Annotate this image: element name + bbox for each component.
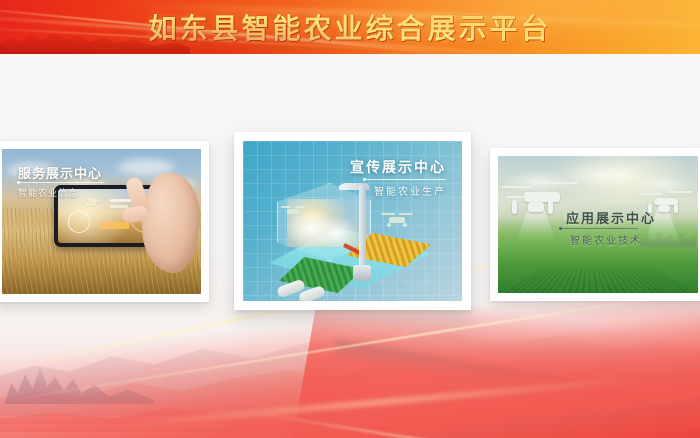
card-subtitle: 智能农业生产 (374, 183, 446, 198)
card-title: 应用展示中心 (566, 208, 656, 227)
card-promotion-image: 宣传展示中心 智能农业生产 (243, 141, 462, 301)
card-application-display-center[interactable]: 应用展示中心 智能农业技术 (490, 148, 700, 301)
temperature-reading: 28° (86, 197, 100, 207)
hud-bar-indicator (99, 222, 129, 229)
card-title: 服务展示中心 (18, 163, 102, 182)
title-divider (18, 182, 104, 183)
drone-icon (381, 211, 413, 227)
card-subtitle: 智能农业技术 (570, 232, 642, 247)
app-root: 如东县智能农业综合展示平台 28° (0, 0, 700, 438)
header-banner: 如东县智能农业综合展示平台 (0, 0, 700, 54)
smart-pole-icon (359, 185, 366, 269)
smart-pole-base-icon (353, 265, 371, 281)
card-service-display-center[interactable]: 28° 服务展示中心 智能农业信息 (0, 141, 209, 302)
card-service-image: 28° 服务展示中心 智能农业信息 (2, 149, 201, 294)
card-application-image: 应用展示中心 智能农业技术 (498, 156, 698, 293)
hand-icon (142, 173, 200, 273)
card-promotion-display-center[interactable]: 宣传展示中心 智能农业生产 (234, 132, 471, 310)
drone-icon (281, 205, 305, 217)
page-title: 如东县智能农业综合展示平台 (0, 0, 700, 54)
title-divider (560, 228, 638, 229)
sun-glow (250, 348, 580, 438)
hud-ring-icon (68, 211, 90, 233)
card-subtitle: 智能农业信息 (18, 186, 78, 199)
card-title: 宣传展示中心 (350, 157, 446, 177)
title-divider (366, 179, 446, 180)
